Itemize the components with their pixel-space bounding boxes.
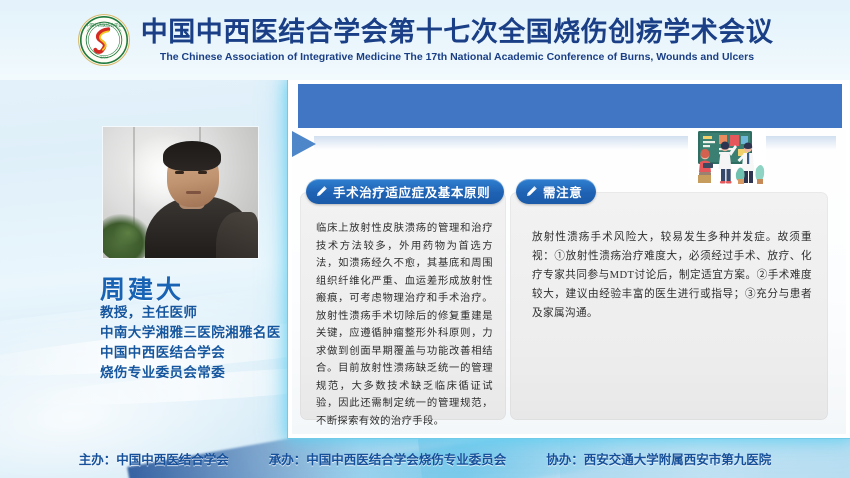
svg-text:CAIM: CAIM (100, 55, 108, 59)
conference-banner: 中国中西医结合学会 CAIM 中国中西医结合学会第十七次全国烧伤创疡学术会议 T… (0, 0, 850, 80)
slide-tab-notes[interactable]: 需注意 (516, 179, 596, 204)
slide-tab-surgical-indications[interactable]: 手术治疗适应症及基本原则 (306, 179, 504, 204)
speaker-eye-left (175, 171, 184, 174)
slide-tab-left-label: 手术治疗适应症及基本原则 (333, 182, 490, 201)
slide-card-left-body: 临床上放射性皮肤溃疡的管理和治疗技术方法较多，外用药物为首选方法，如溃疡经久不愈… (316, 220, 493, 430)
speaker-eye-right (198, 171, 207, 174)
banner-text-group: 中国中西医结合学会第十七次全国烧伤创疡学术会议 The Chinese Asso… (141, 17, 774, 62)
triangle-right-icon (292, 131, 316, 157)
speaker-hair (163, 141, 221, 171)
speaker-affiliations: 教授，主任医师 中南大学湘雅三医院湘雅名医 中国中西医结合学会 烧伤专业委员会常… (100, 303, 281, 383)
slide-tab-right-label: 需注意 (543, 182, 582, 201)
slide-header-bar (298, 84, 842, 128)
pen-icon (315, 185, 328, 198)
speaker-mouth (186, 191, 201, 194)
pen-icon (525, 185, 538, 198)
slide-card-left: 临床上放射性皮肤溃疡的管理和治疗技术方法较多，外用药物为首选方法，如溃疡经久不愈… (300, 192, 506, 420)
conference-logo-icon: 中国中西医结合学会 CAIM (77, 13, 131, 67)
people-whiteboard-illustration-icon (688, 129, 766, 185)
slide-card-right-body: 放射性溃疡手术风险大，较易发生多种并发症。故须重视：①放射性溃疡治疗难度大，必须… (532, 228, 812, 323)
footer-organizer: 主办：中国中西医结合学会 (79, 449, 229, 468)
broadcast-stage: 中国中西医结合学会 CAIM 中国中西医结合学会第十七次全国烧伤创疡学术会议 T… (0, 0, 850, 478)
footer-coorganizer: 协办：西安交通大学附属西安市第九医院 (546, 449, 771, 468)
presentation-slide[interactable]: 临床上放射性皮肤溃疡的管理和治疗技术方法较多，外用药物为首选方法，如溃疡经久不愈… (288, 80, 850, 438)
speaker-video-feed[interactable] (103, 127, 258, 258)
speaker-name: 周建大 (100, 270, 184, 306)
footer-bar: 主办：中国中西医结合学会 承办：中国中西医结合学会烧伤专业委员会 协办：西安交通… (0, 438, 850, 478)
svg-text:中国中西医结合学会: 中国中西医结合学会 (86, 22, 122, 28)
conference-title-en: The Chinese Association of Integrative M… (160, 51, 754, 63)
slide-card-right: 放射性溃疡手术风险大，较易发生多种并发症。故须重视：①放射性溃疡治疗难度大，必须… (510, 192, 828, 420)
conference-title-cn: 中国中西医结合学会第十七次全国烧伤创疡学术会议 (141, 17, 774, 48)
slide-canvas: 临床上放射性皮肤溃疡的管理和治疗技术方法较多，外用药物为首选方法，如溃疡经久不愈… (292, 84, 846, 434)
footer-undertaker: 承办：中国中西医结合学会烧伤专业委员会 (269, 449, 507, 468)
video-bg-plant-highlight (113, 220, 143, 246)
